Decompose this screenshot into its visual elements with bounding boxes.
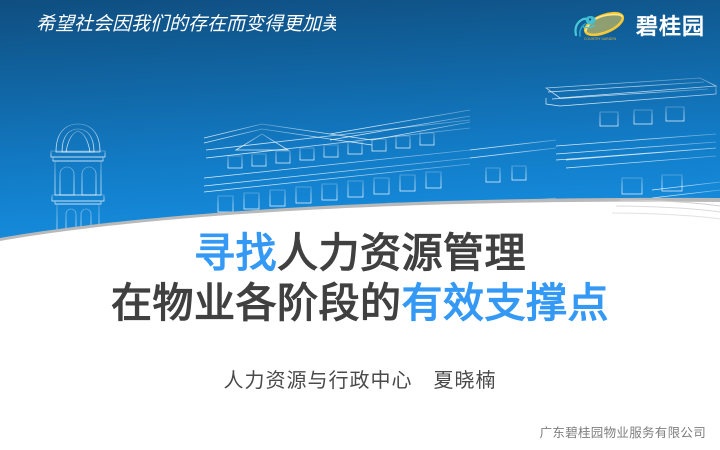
company-logo: COUNTRY GARDEN 碧桂园 bbox=[570, 8, 710, 42]
title-line-1: 寻找人力资源管理 bbox=[0, 228, 720, 278]
title-line-1-rest: 人力资源管理 bbox=[277, 229, 526, 277]
connecting-colonnade bbox=[470, 140, 556, 208]
slide-title: 寻找人力资源管理 在物业各阶段的有效支撑点 bbox=[0, 228, 720, 328]
company-footer: 广东碧桂园物业服务有限公司 bbox=[540, 422, 706, 441]
title-line-2-highlight: 有效支撑点 bbox=[402, 279, 610, 327]
title-line-1-highlight: 寻找 bbox=[194, 229, 277, 277]
pavilion-tower bbox=[546, 78, 720, 246]
presenter-subtitle: 人力资源与行政中心 夏晓楠 bbox=[0, 364, 720, 393]
title-line-2: 在物业各阶段的有效支撑点 bbox=[0, 278, 720, 328]
handwritten-slogan: 希望社会因我们的存在而变得更加美好! bbox=[36, 8, 336, 38]
title-line-2-rest: 在物业各阶段的 bbox=[111, 279, 402, 327]
clock-tower bbox=[51, 88, 106, 248]
arcade-building bbox=[204, 110, 470, 240]
presentation-slide: 希望社会因我们的存在而变得更加美好! COUNTRY GARDEN bbox=[0, 0, 720, 450]
title-banner: 希望社会因我们的存在而变得更加美好! COUNTRY GARDEN bbox=[0, 0, 720, 248]
country-garden-wordmark: 碧桂园 bbox=[636, 9, 710, 41]
country-garden-logo-mark: COUNTRY GARDEN bbox=[570, 9, 632, 41]
slogan-text: 希望社会因我们的存在而变得更加美好! bbox=[36, 13, 336, 35]
logo-sub-text: COUNTRY GARDEN bbox=[584, 37, 616, 41]
logo-wordmark-text: 碧桂园 bbox=[636, 14, 705, 40]
